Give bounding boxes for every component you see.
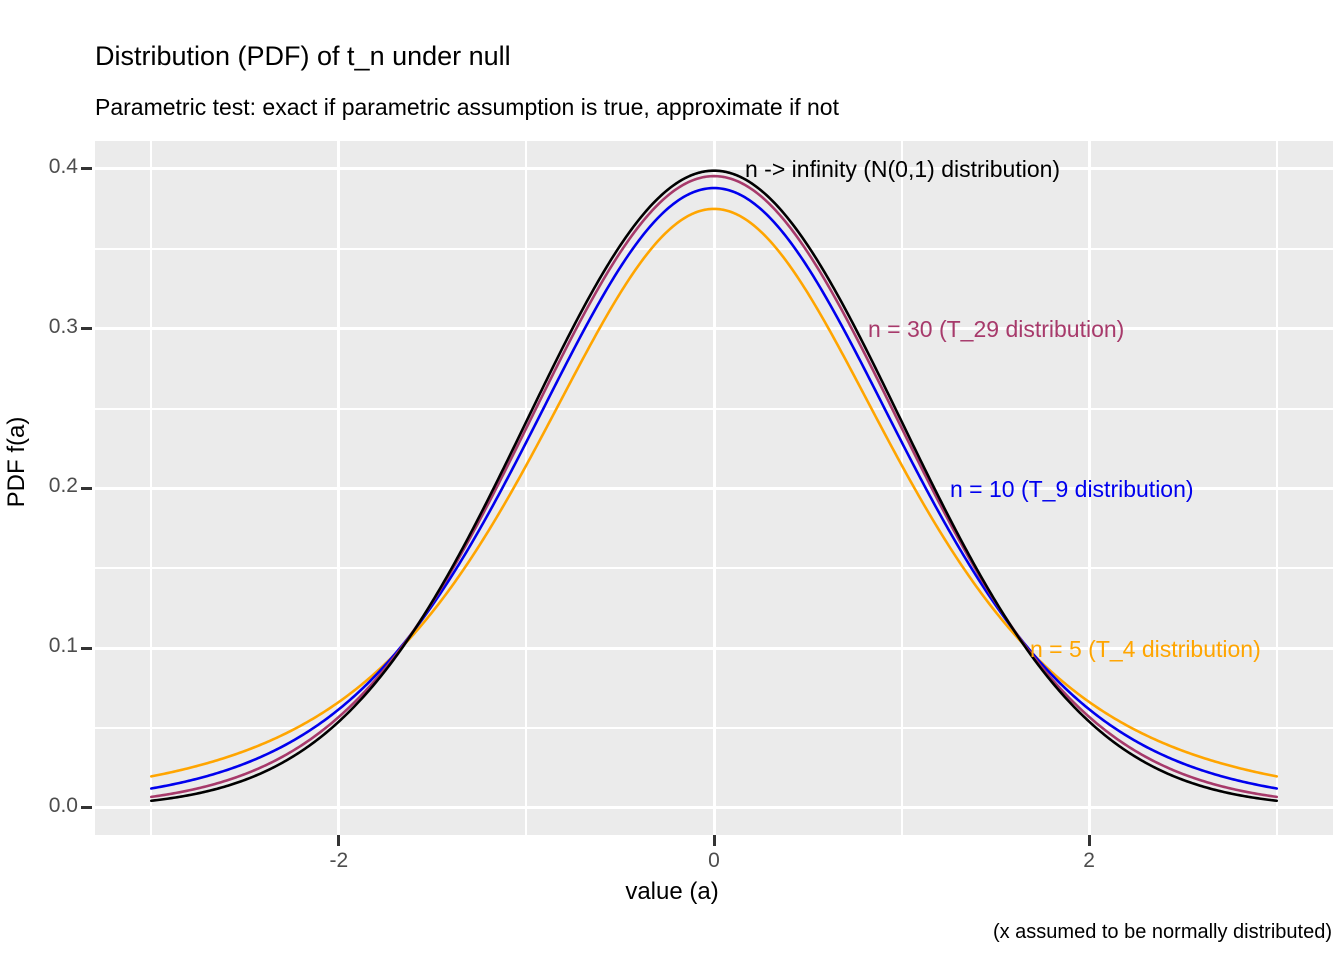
y-tick-label: 0.2 [49,474,78,498]
x-tick-label: 2 [1083,849,1095,873]
x-tick-mark [1088,835,1091,846]
series-label: n = 30 (T_29 distribution) [868,316,1124,343]
y-tick-label: 0.0 [49,794,78,818]
y-tick-mark [81,327,92,330]
y-tick-mark [81,487,92,490]
x-tick-label: 0 [708,849,720,873]
y-tick-label: 0.1 [49,634,78,658]
chart-caption: (x assumed to be normally distributed) [993,921,1332,944]
x-axis: -202 [95,835,1333,875]
series-label: n -> infinity (N(0,1) distribution) [745,156,1060,183]
y-axis-title: PDF f(a) [3,382,31,542]
chart-title: Distribution (PDF) of t_n under null [95,41,511,72]
series-label: n = 5 (T_4 distribution) [1030,636,1261,663]
chart-subtitle: Parametric test: exact if parametric ass… [95,94,839,121]
y-tick-label: 0.3 [49,315,78,339]
x-axis-title: value (a) [0,878,1344,906]
y-tick-mark [81,806,92,809]
x-tick-mark [713,835,716,846]
y-tick-mark [81,167,92,170]
x-tick-label: -2 [330,849,349,873]
chart-root: Distribution (PDF) of t_n under null Par… [0,0,1344,960]
y-tick-label: 0.4 [49,155,78,179]
series-label: n = 10 (T_9 distribution) [950,476,1194,503]
y-tick-mark [81,647,92,650]
plot-panel: n -> infinity (N(0,1) distribution)n = 3… [95,141,1333,835]
x-tick-mark [337,835,340,846]
